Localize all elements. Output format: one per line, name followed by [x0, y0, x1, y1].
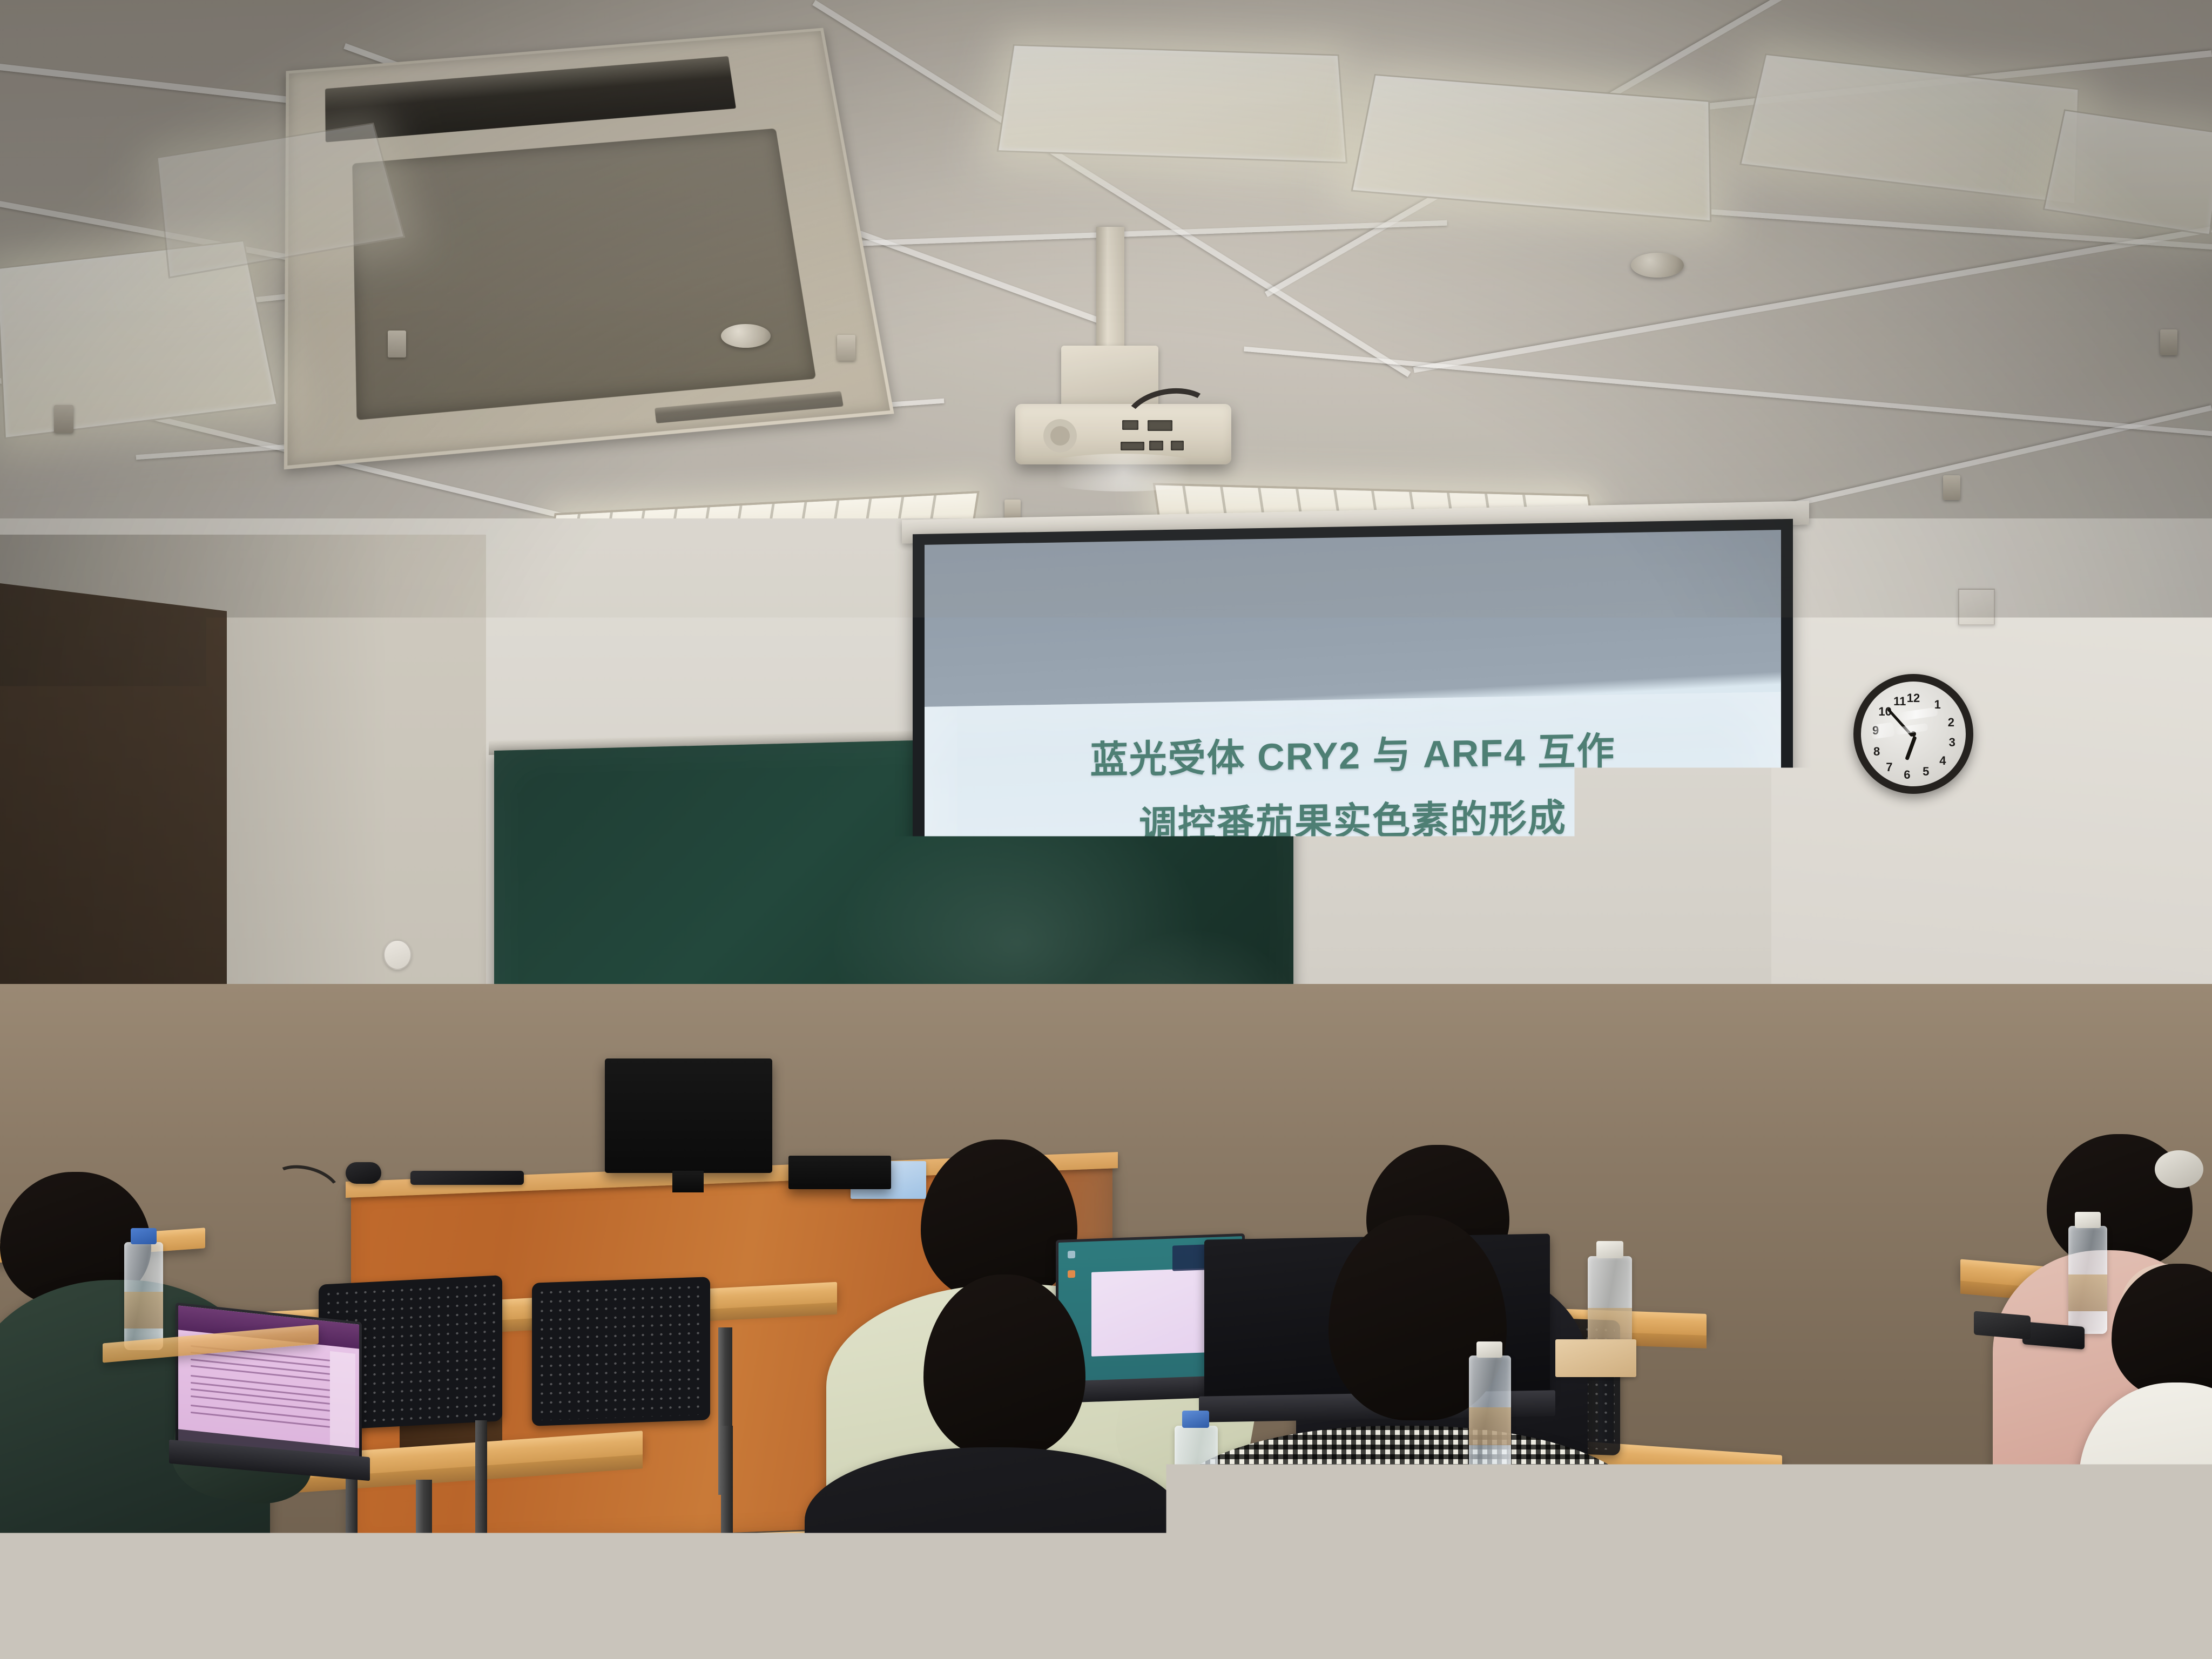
chair-mesh-back	[537, 1283, 705, 1421]
sprinkler-head	[1943, 475, 1960, 500]
ac-vent-grille	[325, 56, 736, 143]
clock-numeral: 3	[1949, 736, 1955, 750]
bottle-cap	[2075, 1212, 2101, 1228]
water-bottle	[1175, 1426, 1218, 1542]
student-torso	[805, 1447, 1183, 1659]
clock-numeral: 7	[1886, 760, 1892, 774]
wall-clock: 12 1 2 3 4 5 6 7 8 9 10 11	[1853, 674, 1973, 794]
presenter-shirt	[567, 922, 783, 1155]
ceiling-light-panel	[0, 240, 278, 439]
clock-numeral: 6	[1904, 768, 1910, 782]
chair-leg	[475, 1420, 487, 1599]
ceiling-air-conditioner	[284, 28, 894, 470]
bottle-cap	[1182, 1411, 1209, 1428]
clock-glass-glare	[1900, 707, 1938, 721]
clock-hour-hand	[1905, 736, 1917, 761]
chair-leg	[721, 1426, 733, 1588]
ceiling	[0, 0, 2212, 562]
bottle-label	[124, 1292, 163, 1328]
wall-access-panel	[1958, 589, 1995, 625]
water-bottle	[124, 1242, 163, 1350]
student-right-white	[2079, 1361, 2212, 1659]
bottle-cap	[1476, 1341, 1502, 1358]
presenter	[551, 832, 799, 1220]
snack-pack	[1555, 1339, 1636, 1377]
podium-keyboard	[410, 1171, 524, 1185]
bottle-label	[1469, 1407, 1511, 1445]
slide-subtitle-line2: to regulate pigment formation in tomato …	[925, 901, 1781, 936]
desktop-icon[interactable]	[1068, 1250, 1075, 1258]
slide-title-line2: 调控番茄果实色素的形成	[925, 794, 1781, 849]
ac-filter-face	[352, 129, 816, 420]
laptop-screen[interactable]	[176, 1303, 362, 1464]
bottle-cap	[131, 1228, 157, 1244]
clock-numeral: 4	[1939, 754, 1946, 768]
sprinkler-head	[388, 331, 406, 358]
student-torso	[2079, 1382, 2212, 1659]
water-bottle	[1469, 1355, 1511, 1469]
desktop-icon[interactable]	[1068, 1270, 1075, 1278]
desktop-wallpaper	[1091, 1268, 1212, 1357]
bottle-label	[1175, 1480, 1218, 1519]
sprinkler-head	[2160, 329, 2177, 355]
presenter-hair-bun	[588, 855, 639, 905]
sprinkler-head	[54, 405, 73, 433]
bottle-cap	[1596, 1241, 1623, 1258]
word-sidebar	[330, 1351, 355, 1452]
water-bottle	[2068, 1226, 2107, 1334]
slide-title-line1: 蓝光受体 CRY2 与 ARF4 互作	[925, 729, 1781, 783]
wall-access-panel	[383, 940, 412, 970]
student-front-gingham	[1150, 1393, 1663, 1659]
student-hair-clip	[2155, 1150, 2203, 1188]
projector-lens-glow	[1029, 454, 1218, 491]
clock-numeral: 2	[1948, 716, 1954, 730]
desk-leg	[416, 1480, 432, 1659]
student-torso	[1166, 1426, 1642, 1659]
ceiling-light-panel	[997, 44, 1347, 164]
smoke-detector	[1631, 253, 1684, 278]
student-front-black	[799, 1431, 1188, 1659]
sprinkler-head	[837, 335, 855, 361]
clock-numeral: 12	[1907, 691, 1920, 705]
keys-on-desk	[1974, 1311, 2031, 1339]
smoke-detector	[721, 324, 771, 348]
presenter-shirt-stripes	[567, 922, 783, 1155]
clock-numeral: 11	[1893, 694, 1906, 709]
student-shoe	[1923, 1545, 2025, 1593]
classroom-chair[interactable]	[532, 1277, 710, 1426]
podium-mouse	[346, 1162, 381, 1184]
clock-glass-glare	[1871, 722, 1895, 739]
projector-speaker-grille	[1043, 419, 1077, 453]
ac-vent-slot	[655, 391, 844, 423]
clock-face: 12 1 2 3 4 5 6 7 8 9 10 11	[1861, 682, 1966, 786]
bottle-label	[2068, 1274, 2107, 1311]
clock-numeral: 5	[1923, 765, 1929, 779]
clock-numeral: 8	[1873, 745, 1880, 759]
projector-mount-pole	[1096, 227, 1124, 351]
slide-subtitle-line1: Interaction between blue light receptor …	[925, 872, 1781, 906]
classroom-scene: 蓝光受体 CRY2 与 ARF4 互作 调控番茄果实色素的形成 Interact…	[0, 0, 2212, 1659]
